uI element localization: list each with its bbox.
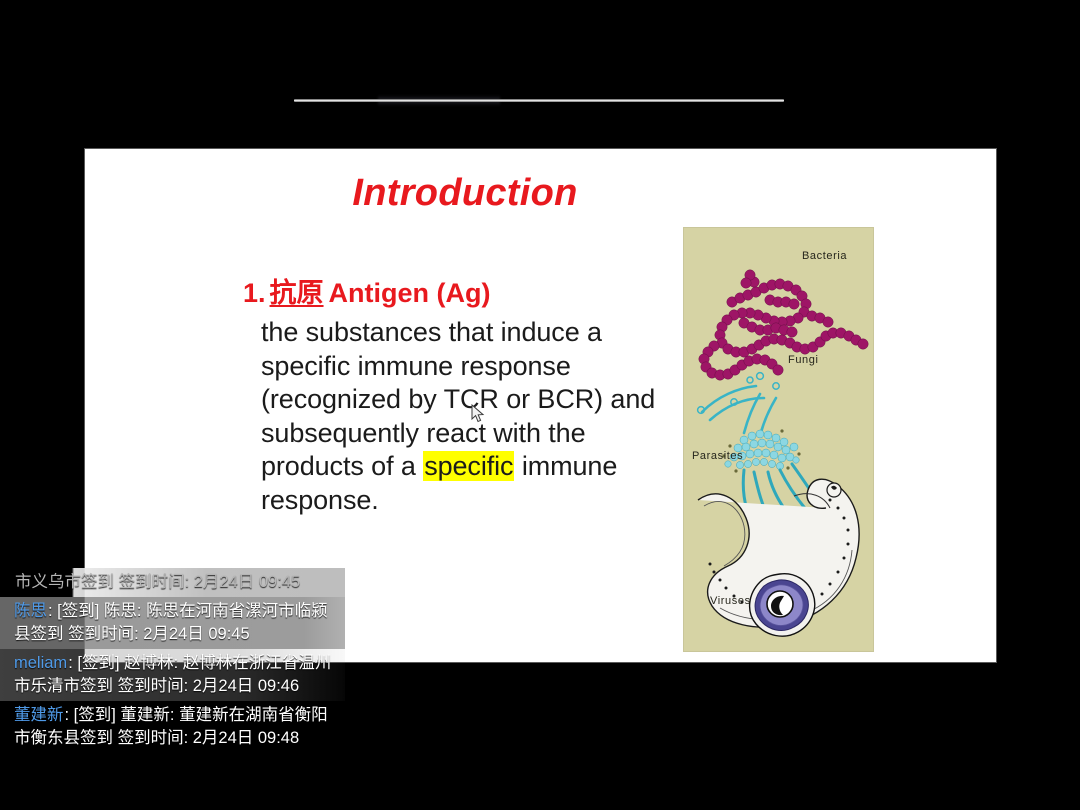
bacteria-glyph bbox=[699, 270, 868, 380]
figure-label-fungi: Fungi bbox=[788, 354, 819, 366]
chat-text: 市义乌市签到 签到时间: 2月24日 09:45 bbox=[15, 573, 300, 591]
chat-username: 董建新 bbox=[14, 706, 64, 724]
slide-body-text: the substances that induce a specific im… bbox=[261, 316, 681, 517]
body-line-1: the substances that induce a bbox=[261, 316, 681, 350]
slide-title: Introduction bbox=[85, 172, 845, 215]
figure-label-parasites: Parasites bbox=[692, 450, 743, 462]
chat-username: meliam bbox=[14, 654, 67, 672]
pathogen-types-figure: Bacteria Fungi Parasites Viruses bbox=[683, 227, 874, 652]
body-line-2: specific immune response bbox=[261, 350, 681, 384]
collapsed-toolbar-strip[interactable] bbox=[294, 99, 784, 102]
viruses-glyph bbox=[750, 574, 815, 636]
chat-message: 董建新: [签到] 董建新: 董建新在湖南省衡阳市衡东县签到 签到时间: 2月2… bbox=[0, 701, 345, 753]
chat-message: 市义乌市签到 签到时间: 2月24日 09:45 bbox=[0, 568, 345, 597]
chat-message: 陈思: [签到] 陈思: 陈思在河南省漯河市临颍县签到 签到时间: 2月24日 … bbox=[0, 597, 345, 649]
body-line-5: products of a specific immune bbox=[261, 450, 681, 484]
figure-label-bacteria: Bacteria bbox=[802, 250, 847, 262]
heading-term-cjk: 抗原 bbox=[270, 278, 324, 308]
presentation-viewer-stage: Introduction 1.抗原Antigen (Ag) the substa… bbox=[0, 0, 1080, 810]
figure-label-viruses: Viruses bbox=[710, 595, 751, 607]
body-line-3: (recognized by TCR or BCR) and bbox=[261, 383, 681, 417]
body-line-5-pre: products of a bbox=[261, 451, 423, 481]
live-chat-overlay: 市义乌市签到 签到时间: 2月24日 09:45 陈思: [签到] 陈思: 陈思… bbox=[0, 568, 345, 753]
chat-message: meliam: [签到] 赵博林: 赵博林在浙江省温州市乐清市签到 签到时间: … bbox=[0, 649, 345, 701]
heading-number: 1. bbox=[243, 278, 266, 308]
highlighted-word: specific bbox=[423, 451, 514, 481]
body-line-4: subsequently react with the bbox=[261, 417, 681, 451]
slide-heading: 1.抗原Antigen (Ag) bbox=[243, 271, 491, 310]
body-line-5-post: immune bbox=[514, 451, 617, 481]
heading-term-latin: Antigen (Ag) bbox=[329, 278, 491, 308]
chat-username: 陈思 bbox=[14, 602, 47, 620]
chat-text: : [签到] 陈思: 陈思在河南省漯河市临颍县签到 签到时间: 2月24日 09… bbox=[14, 602, 328, 643]
body-line-6: response. bbox=[261, 484, 681, 518]
